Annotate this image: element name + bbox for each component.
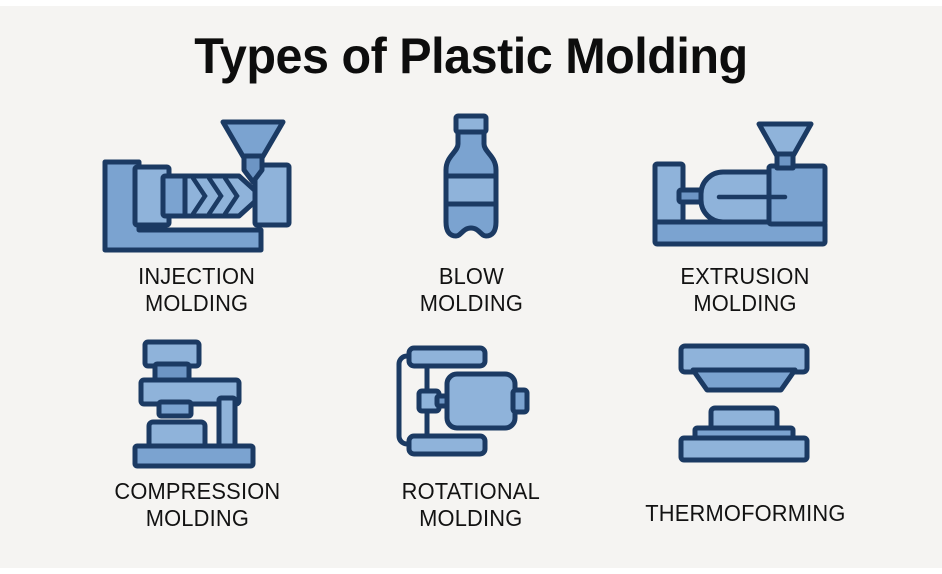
item-caption: INJECTION MOLDING bbox=[138, 263, 255, 317]
item-injection-molding[interactable]: INJECTION MOLDING bbox=[60, 110, 334, 336]
plastic-bottle-icon bbox=[411, 110, 531, 250]
caption-line-1: EXTRUSION bbox=[680, 263, 809, 290]
caption-line-2: MOLDING bbox=[402, 505, 540, 532]
item-rotational-molding[interactable]: ROTATIONAL MOLDING bbox=[334, 336, 608, 560]
icon-container bbox=[107, 336, 287, 464]
molding-types-grid: INJECTION MOLDING bbox=[60, 110, 882, 560]
item-caption: COMPRESSION MOLDING bbox=[114, 478, 280, 532]
icon-container bbox=[411, 110, 531, 250]
icon-container bbox=[655, 336, 835, 464]
caption-line-1: BLOW bbox=[419, 263, 522, 290]
infographic-panel: Types of Plastic Molding bbox=[0, 6, 942, 568]
item-extrusion-molding[interactable]: EXTRUSION MOLDING bbox=[608, 110, 882, 336]
caption-line-1: INJECTION bbox=[138, 263, 255, 290]
caption-line-2: MOLDING bbox=[680, 290, 809, 317]
item-compression-molding[interactable]: COMPRESSION MOLDING bbox=[60, 336, 334, 560]
extrusion-molding-machine-icon bbox=[645, 110, 845, 250]
caption-line-1: ROTATIONAL bbox=[402, 478, 540, 505]
item-caption: ROTATIONAL MOLDING bbox=[402, 478, 540, 532]
thermoforming-mold-icon bbox=[655, 336, 835, 464]
item-blow-molding[interactable]: BLOW MOLDING bbox=[334, 110, 608, 336]
grid-row-2: COMPRESSION MOLDING bbox=[60, 336, 882, 560]
caption-line-2: MOLDING bbox=[138, 290, 255, 317]
page-title: Types of Plastic Molding bbox=[14, 28, 928, 84]
grid-row-1: INJECTION MOLDING bbox=[60, 110, 882, 336]
caption-line-2: MOLDING bbox=[419, 290, 522, 317]
item-caption: BLOW MOLDING bbox=[419, 263, 522, 317]
injection-molding-machine-icon bbox=[97, 110, 297, 250]
item-caption: THERMOFORMING bbox=[645, 500, 845, 527]
icon-container bbox=[381, 336, 561, 464]
caption-line-1: THERMOFORMING bbox=[645, 500, 845, 527]
item-caption: EXTRUSION MOLDING bbox=[680, 263, 809, 317]
item-thermoforming[interactable]: THERMOFORMING bbox=[608, 336, 882, 560]
caption-line-2: MOLDING bbox=[114, 505, 280, 532]
caption-line-1: COMPRESSION bbox=[114, 478, 280, 505]
rotational-molding-machine-icon bbox=[381, 336, 561, 464]
compression-press-icon bbox=[107, 336, 287, 464]
icon-container bbox=[97, 110, 297, 250]
icon-container bbox=[645, 110, 845, 250]
